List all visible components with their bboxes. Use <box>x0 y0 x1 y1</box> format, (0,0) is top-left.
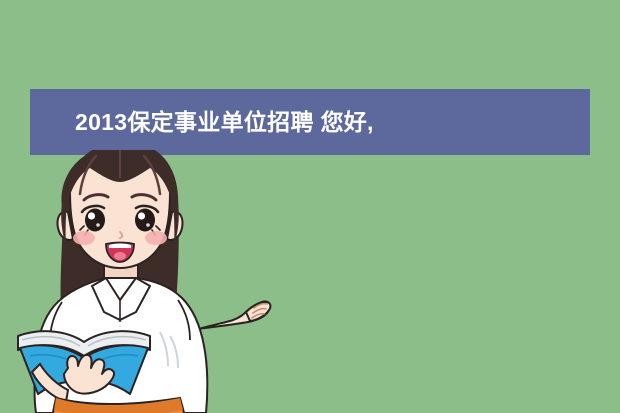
blush-left <box>73 231 95 245</box>
cartoon-girl-illustration <box>10 150 290 413</box>
title-banner: 2013保定事业单位招聘 您好, <box>30 89 590 155</box>
screenshot-canvas: 2013保定事业单位招聘 您好, <box>0 0 620 413</box>
blush-right <box>145 231 167 245</box>
page-title: 2013保定事业单位招聘 您好, <box>30 111 374 134</box>
